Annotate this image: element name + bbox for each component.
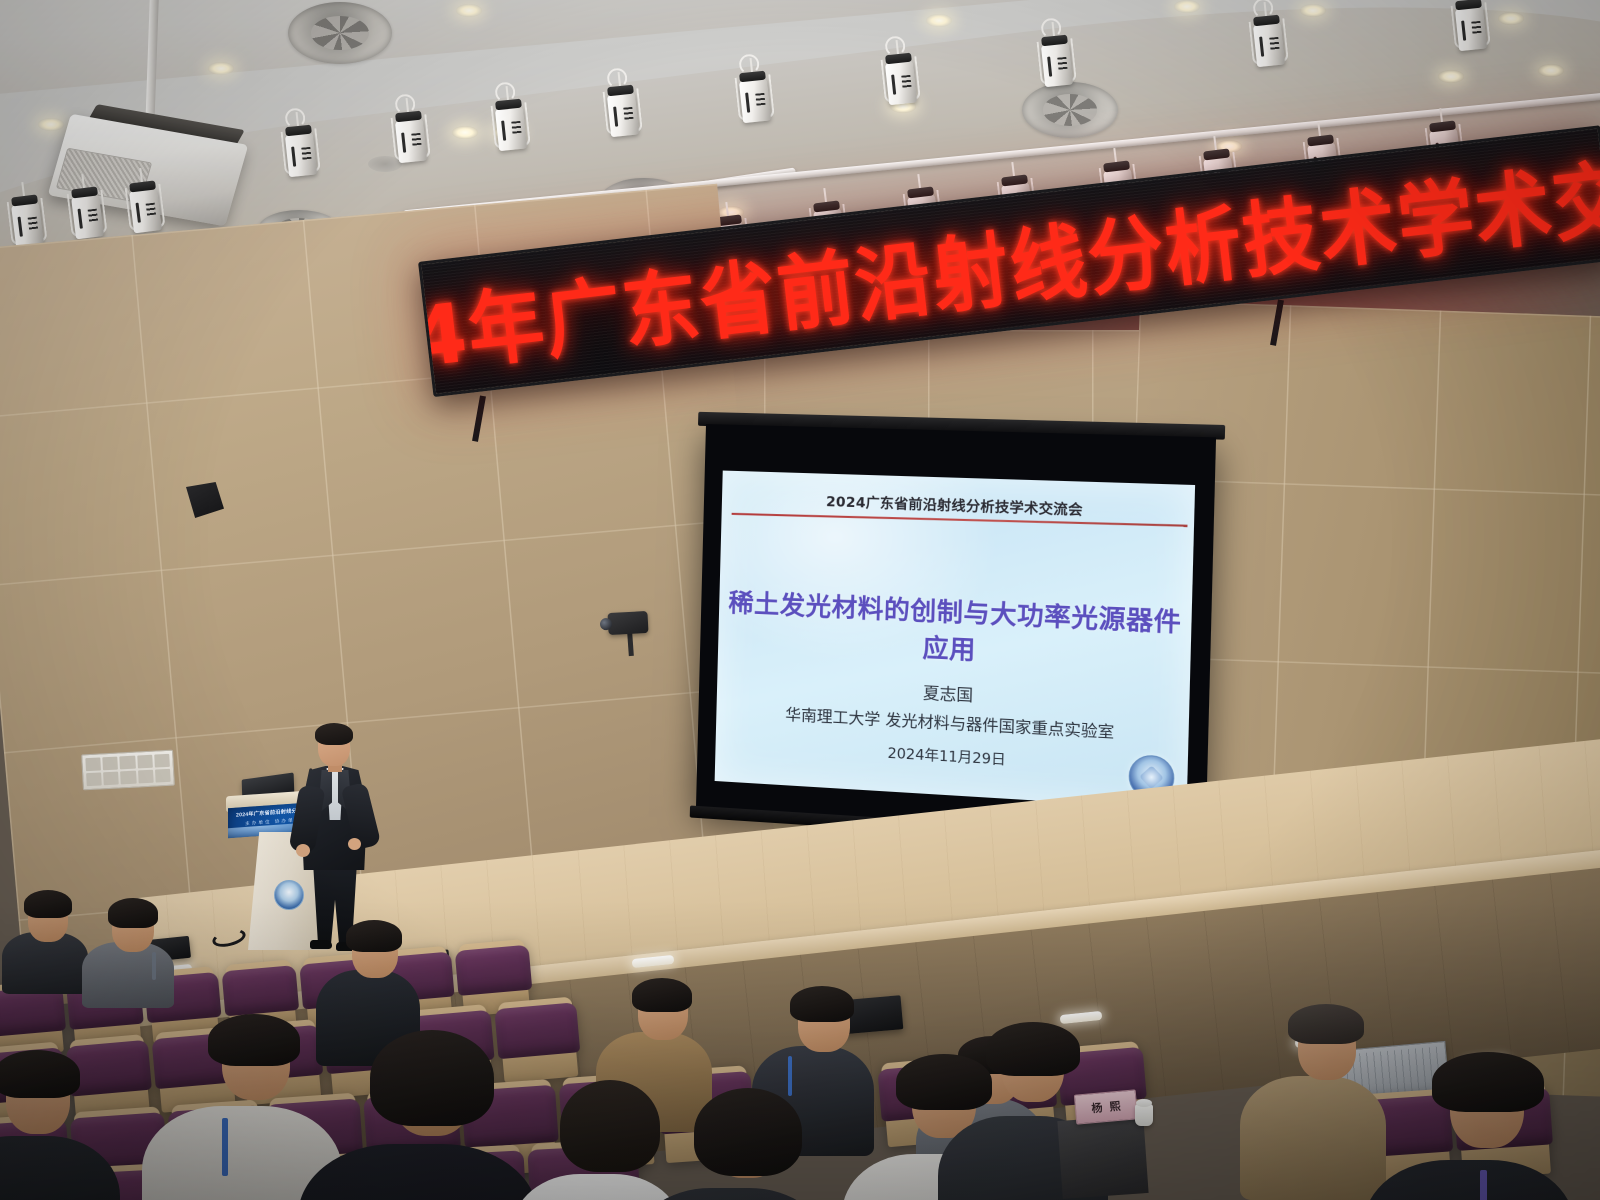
audience-hair xyxy=(1288,1004,1364,1044)
audience-hair xyxy=(986,1022,1080,1076)
presenter-speaker xyxy=(292,726,376,954)
name-card-given: 熙 xyxy=(1109,1098,1121,1115)
audience-hair xyxy=(790,986,854,1022)
presenter-hand xyxy=(348,838,361,850)
presenter-shoe xyxy=(310,940,332,949)
audience-hair xyxy=(0,1050,80,1098)
keypad-button[interactable] xyxy=(102,757,118,771)
stage-spotlight xyxy=(388,110,434,176)
keypad-button[interactable] xyxy=(155,769,171,783)
audience-hair xyxy=(560,1080,660,1172)
spotlight-body xyxy=(739,78,771,123)
wall-light-control-panel[interactable] xyxy=(81,750,175,791)
audience-hair xyxy=(632,978,692,1012)
audience-torso xyxy=(1240,1076,1386,1200)
audience-hair xyxy=(208,1014,300,1066)
stage-spotlight xyxy=(1246,14,1292,80)
keypad-button[interactable] xyxy=(154,754,170,768)
spotlight-body xyxy=(129,188,162,233)
audience-hair xyxy=(346,920,402,952)
audience-hair xyxy=(1432,1052,1544,1112)
wall-mounted-camera xyxy=(607,611,648,635)
spotlight-body xyxy=(885,60,917,105)
spotlight-body xyxy=(11,202,44,247)
ceiling-downlight xyxy=(1174,0,1200,13)
keypad-button[interactable] xyxy=(103,772,119,786)
projection-screen: 2024广东省前沿射线分析技学术交流会 稀土发光材料的创制与大功率光源器件应用 … xyxy=(696,424,1216,840)
audience-hair xyxy=(108,898,158,928)
stage-spotlight xyxy=(732,70,778,136)
presentation-slide: 2024广东省前沿射线分析技学术交流会 稀土发光材料的创制与大功率光源器件应用 … xyxy=(715,471,1195,810)
attendee-lanyard xyxy=(788,1056,792,1096)
tea-cup xyxy=(1135,1104,1153,1126)
spotlight-body xyxy=(495,106,527,151)
seat-cushion xyxy=(455,945,533,996)
stage-spotlight xyxy=(600,84,646,150)
ceiling-downlight xyxy=(38,118,64,131)
keypad-button[interactable] xyxy=(85,757,101,771)
ceiling-downlight xyxy=(1538,64,1564,77)
keypad-button[interactable] xyxy=(86,772,102,786)
stage-spotlight xyxy=(488,98,534,164)
stage-spotlight xyxy=(1448,0,1494,64)
ceiling-air-vent xyxy=(288,2,392,64)
audience-hair xyxy=(896,1054,992,1110)
ceiling-downlight xyxy=(456,4,482,17)
attendee-lanyard xyxy=(222,1118,228,1176)
auditorium-seat[interactable] xyxy=(494,996,583,1083)
spotlight-body xyxy=(1041,42,1073,87)
spotlight-body xyxy=(71,194,104,239)
keypad-button[interactable] xyxy=(138,770,154,784)
auditorium-photo: 2024年广东省前沿射线分析技术学术交流会 2024广东省前沿射线分析技学术交流… xyxy=(0,0,1600,1200)
attendee-name-card: 杨 熙 xyxy=(1074,1089,1138,1124)
ceiling-downlight xyxy=(1300,4,1326,17)
spotlight-body xyxy=(607,92,639,137)
side-table xyxy=(1057,1115,1148,1199)
slide-title-text: 稀土发光材料的创制与大功率光源器件应用 xyxy=(726,583,1183,677)
audience-hair xyxy=(694,1088,802,1176)
stage-spotlight xyxy=(878,52,924,118)
audience-hair xyxy=(370,1030,494,1126)
presenter-hand xyxy=(296,844,310,857)
attendee-lanyard xyxy=(152,952,156,980)
ceiling-downlight xyxy=(926,14,952,27)
keypad-button[interactable] xyxy=(137,755,153,769)
keypad-button[interactable] xyxy=(120,756,136,770)
keypad-button[interactable] xyxy=(120,771,136,785)
attendee-lanyard xyxy=(1480,1170,1487,1200)
spotlight-body xyxy=(285,132,317,177)
ceiling-downlight xyxy=(208,62,234,75)
ceiling-downlight xyxy=(1498,12,1524,25)
seat-cushion xyxy=(222,965,300,1016)
name-card-surname: 杨 xyxy=(1091,1099,1103,1116)
spotlight-body xyxy=(1455,6,1487,51)
ceiling-downlight xyxy=(1438,70,1464,83)
spotlight-body xyxy=(1253,22,1285,67)
spotlight-body xyxy=(395,118,427,163)
presenter-hair xyxy=(315,723,353,745)
stage-spotlight xyxy=(1034,34,1080,100)
audience-hair xyxy=(24,890,72,918)
stage-spotlight xyxy=(278,124,324,190)
slide-header-text: 2024广东省前沿射线分析技学术交流会 xyxy=(722,487,1195,523)
seat-cushion xyxy=(494,1002,580,1059)
ceiling-downlight xyxy=(452,126,478,139)
